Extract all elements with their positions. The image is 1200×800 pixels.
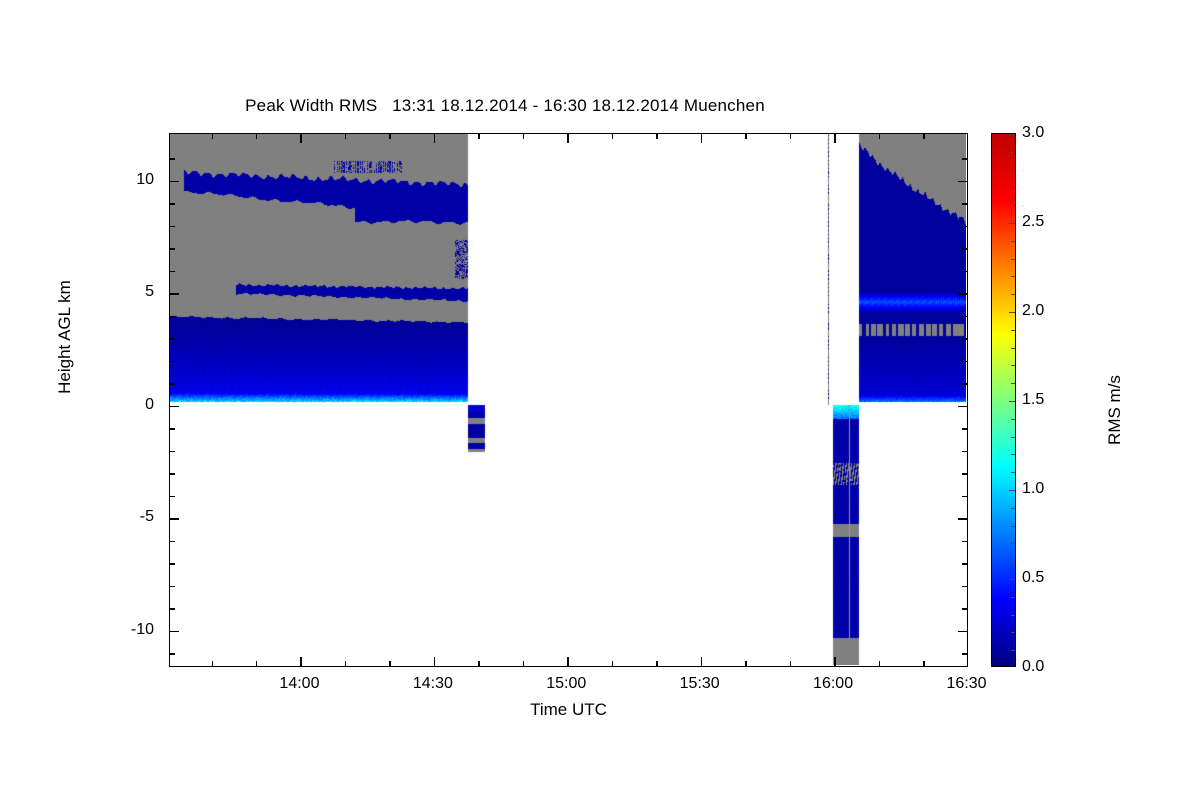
y-tick-major <box>170 293 179 295</box>
x-tick-major <box>834 657 836 666</box>
colorbar-tick <box>1009 312 1015 313</box>
colorbar-minor-tick <box>1011 437 1015 438</box>
x-tick-major-top <box>300 134 302 143</box>
x-tick-minor-top <box>256 134 258 139</box>
colorbar-tick-label: 2.5 <box>1022 213 1044 231</box>
y-tick-minor-right <box>962 451 967 453</box>
colorbar-tick <box>1009 223 1015 224</box>
colorbar-minor-tick <box>1011 365 1015 366</box>
x-tick-minor <box>256 661 258 666</box>
colorbar-minor-tick <box>1011 348 1015 349</box>
colorbar-minor-tick <box>1011 472 1015 473</box>
colorbar-minor-tick <box>1011 294 1015 295</box>
colorbar-gradient <box>992 134 1015 666</box>
y-tick-label: 10 <box>120 171 154 189</box>
y-tick-major-right <box>958 406 967 408</box>
x-tick-major <box>567 657 569 666</box>
colorbar-minor-tick <box>1011 454 1015 455</box>
x-tick-label: 15:00 <box>546 675 586 693</box>
colorbar-minor-tick <box>1011 259 1015 260</box>
y-tick-label: 5 <box>120 283 154 301</box>
colorbar-minor-tick <box>1011 241 1015 242</box>
colorbar[interactable] <box>991 133 1016 667</box>
y-tick-minor <box>170 271 175 273</box>
x-tick-major-top <box>968 134 969 143</box>
y-tick-minor <box>170 451 175 453</box>
x-tick-minor <box>745 661 747 666</box>
colorbar-minor-tick <box>1011 383 1015 384</box>
y-tick-minor-right <box>962 541 967 543</box>
y-tick-minor-right <box>962 226 967 228</box>
x-tick-minor-top <box>879 134 881 139</box>
x-tick-major-top <box>701 134 703 143</box>
colorbar-minor-tick <box>1011 276 1015 277</box>
x-tick-minor <box>879 661 881 666</box>
y-tick-minor-right <box>962 586 967 588</box>
y-tick-major <box>170 181 179 183</box>
colorbar-tick-label: 3.0 <box>1022 124 1044 142</box>
y-tick-minor <box>170 338 175 340</box>
y-tick-minor-right <box>962 338 967 340</box>
colorbar-label: RMS m/s <box>1105 295 1125 525</box>
colorbar-minor-tick <box>1011 330 1015 331</box>
x-tick-minor <box>389 661 391 666</box>
colorbar-minor-tick <box>1011 561 1015 562</box>
y-tick-major-right <box>958 631 967 633</box>
y-tick-minor <box>170 608 175 610</box>
heatmap-image <box>170 134 966 665</box>
y-tick-minor <box>170 203 175 205</box>
y-tick-label: -5 <box>120 508 154 526</box>
x-tick-minor <box>923 661 925 666</box>
x-tick-major <box>434 657 436 666</box>
y-tick-minor-right <box>962 316 967 318</box>
y-tick-minor <box>170 541 175 543</box>
x-tick-minor <box>612 661 614 666</box>
colorbar-minor-tick <box>1011 187 1015 188</box>
colorbar-minor-tick <box>1011 508 1015 509</box>
colorbar-tick-label: 2.0 <box>1022 302 1044 320</box>
y-tick-minor <box>170 226 175 228</box>
x-tick-minor <box>656 661 658 666</box>
y-tick-minor-right <box>962 653 967 655</box>
x-tick-major-top <box>434 134 436 143</box>
y-tick-major <box>170 406 179 408</box>
y-tick-major <box>170 631 179 633</box>
y-tick-minor-right <box>962 361 967 363</box>
x-tick-minor-top <box>389 134 391 139</box>
colorbar-minor-tick <box>1011 632 1015 633</box>
y-tick-minor-right <box>962 271 967 273</box>
x-tick-major <box>968 657 969 666</box>
colorbar-minor-tick <box>1011 152 1015 153</box>
colorbar-tick <box>1009 134 1015 135</box>
x-tick-major <box>300 657 302 666</box>
colorbar-minor-tick <box>1011 526 1015 527</box>
colorbar-minor-tick <box>1011 597 1015 598</box>
x-tick-minor-top <box>745 134 747 139</box>
page-title: Peak Width RMS 13:31 18.12.2014 - 16:30 … <box>0 96 1010 116</box>
x-tick-minor-top <box>612 134 614 139</box>
y-tick-minor-right <box>962 496 967 498</box>
x-tick-minor <box>790 661 792 666</box>
y-tick-minor <box>170 653 175 655</box>
y-tick-minor-right <box>962 383 967 385</box>
y-tick-minor-right <box>962 203 967 205</box>
y-tick-minor-right <box>962 608 967 610</box>
y-tick-minor <box>170 563 175 565</box>
colorbar-tick-label: 0.5 <box>1022 569 1044 587</box>
y-tick-minor <box>170 428 175 430</box>
y-tick-minor-right <box>962 563 967 565</box>
x-tick-major-top <box>567 134 569 143</box>
colorbar-tick <box>1009 401 1015 402</box>
colorbar-minor-tick <box>1011 650 1015 651</box>
colorbar-tick <box>1009 490 1015 491</box>
x-tick-minor-top <box>345 134 347 139</box>
colorbar-minor-tick <box>1011 205 1015 206</box>
y-tick-minor-right <box>962 428 967 430</box>
colorbar-minor-tick <box>1011 543 1015 544</box>
x-tick-major-top <box>834 134 836 143</box>
x-tick-minor-top <box>523 134 525 139</box>
x-tick-minor-top <box>790 134 792 139</box>
x-tick-minor <box>345 661 347 666</box>
y-tick-major-right <box>958 518 967 520</box>
y-tick-minor <box>170 383 175 385</box>
y-tick-label: 0 <box>120 396 154 414</box>
x-tick-minor <box>478 661 480 666</box>
colorbar-minor-tick <box>1011 170 1015 171</box>
y-tick-minor-right <box>962 473 967 475</box>
colorbar-tick <box>1009 579 1015 580</box>
x-tick-label: 14:00 <box>279 675 319 693</box>
x-tick-minor-top <box>923 134 925 139</box>
y-tick-minor-right <box>962 248 967 250</box>
y-tick-minor <box>170 473 175 475</box>
y-tick-minor <box>170 248 175 250</box>
y-tick-minor <box>170 316 175 318</box>
x-tick-major <box>701 657 703 666</box>
x-tick-minor <box>523 661 525 666</box>
y-tick-minor <box>170 158 175 160</box>
x-tick-minor-top <box>212 134 214 139</box>
y-tick-label: -10 <box>120 621 154 639</box>
x-tick-minor <box>212 661 214 666</box>
y-tick-minor <box>170 496 175 498</box>
colorbar-minor-tick <box>1011 419 1015 420</box>
colorbar-minor-tick <box>1011 615 1015 616</box>
x-tick-label: 16:30 <box>946 675 986 693</box>
x-axis-label: Time UTC <box>169 700 968 720</box>
y-tick-major <box>170 518 179 520</box>
colorbar-tick-label: 0.0 <box>1022 658 1044 676</box>
y-tick-minor-right <box>962 158 967 160</box>
colorbar-tick-label: 1.5 <box>1022 391 1044 409</box>
x-tick-label: 16:00 <box>813 675 853 693</box>
x-tick-label: 14:30 <box>413 675 453 693</box>
heatmap-plot-area[interactable] <box>169 133 968 667</box>
y-tick-major-right <box>958 181 967 183</box>
y-axis-label: Height AGL km <box>55 222 75 452</box>
figure-canvas: Peak Width RMS 13:31 18.12.2014 - 16:30 … <box>0 0 1200 800</box>
y-tick-minor <box>170 586 175 588</box>
y-tick-minor <box>170 361 175 363</box>
x-tick-minor-top <box>656 134 658 139</box>
colorbar-tick-label: 1.0 <box>1022 480 1044 498</box>
x-tick-label: 15:30 <box>680 675 720 693</box>
x-tick-minor-top <box>478 134 480 139</box>
y-tick-major-right <box>958 293 967 295</box>
